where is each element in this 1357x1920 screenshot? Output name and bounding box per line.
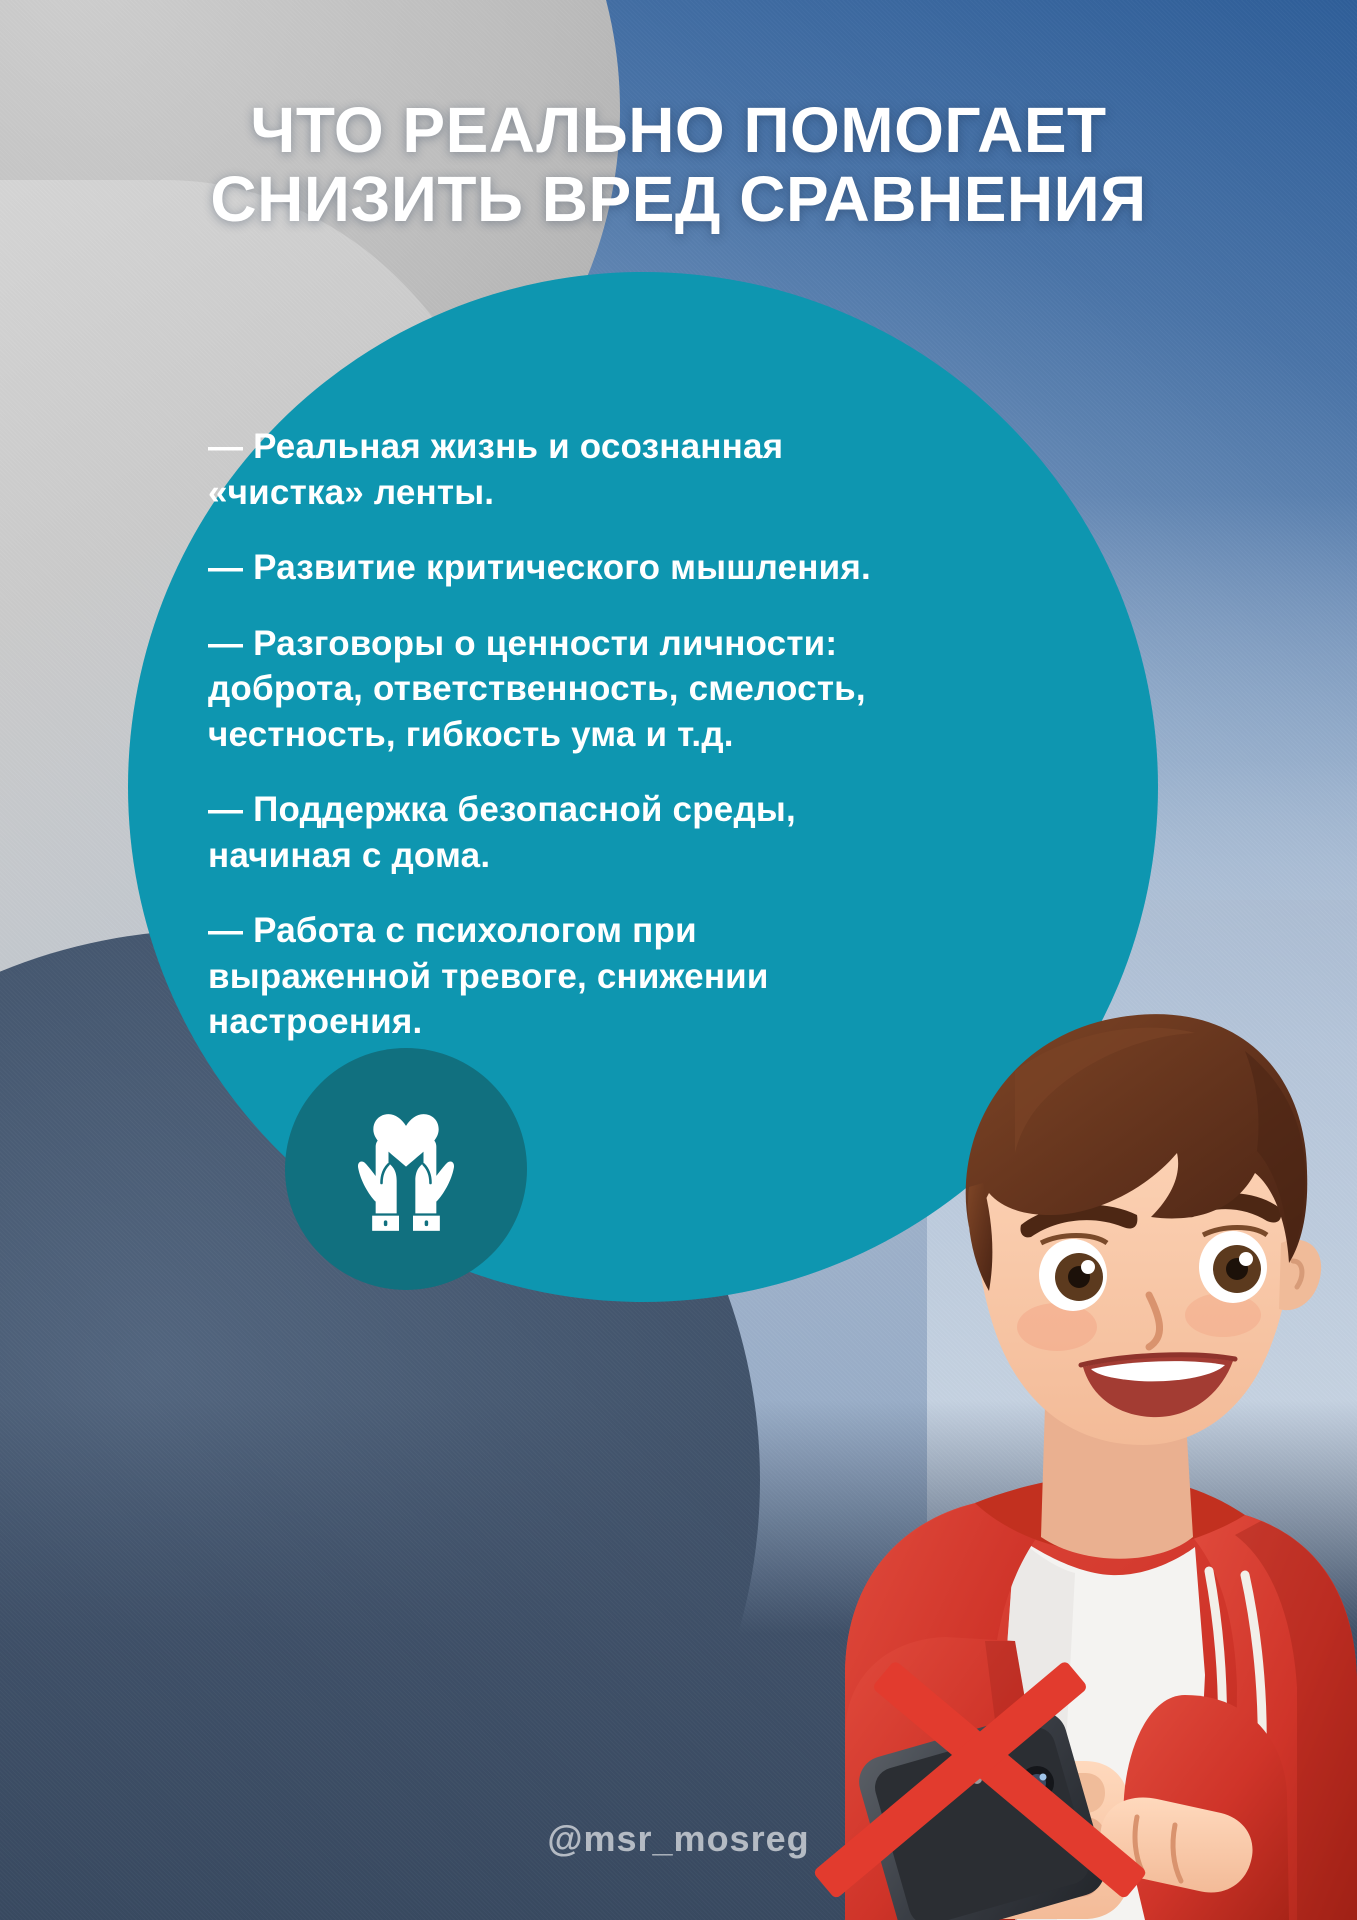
page-title: ЧТО РЕАЛЬНО ПОМОГАЕТ СНИЗИТЬ ВРЕД СРАВНЕ… [0,96,1357,234]
watermark: @msr_mosreg [0,1818,1357,1860]
heart-in-hands-badge [285,1048,527,1290]
heart-in-hands-icon [336,1099,476,1239]
bullet-4-line-2: начиная с дома. [208,833,998,879]
title-line-1: ЧТО РЕАЛЬНО ПОМОГАЕТ [0,96,1357,165]
bullet-3-line-3: честность, гибкость ума и т.д. [208,712,998,758]
bullet-3-line-2: доброта, ответственность, смелость, [208,666,998,712]
list-item: — Развитие критического мышления. [208,545,998,591]
bullet-3-line-1: — Разговоры о ценности личности: [208,621,998,667]
bullet-1-line-1: — Реальная жизнь и осознанная [208,424,998,470]
boy-illustration [545,975,1357,1920]
bullet-1-line-2: «чистка» ленты. [208,470,998,516]
bullet-4-line-1: — Поддержка безопасной среды, [208,787,998,833]
list-item: — Реальная жизнь и осознанная «чистка» л… [208,424,998,515]
list-item: — Поддержка безопасной среды, начиная с … [208,787,998,878]
list-item: — Разговоры о ценности личности: доброта… [208,621,998,758]
bullet-2-line-1: — Развитие критического мышления. [208,545,998,591]
title-line-2: СНИЗИТЬ ВРЕД СРАВНЕНИЯ [0,165,1357,234]
bullet-5-line-1: — Работа с психологом при [208,908,998,954]
infographic-poster: ЧТО РЕАЛЬНО ПОМОГАЕТ СНИЗИТЬ ВРЕД СРАВНЕ… [0,0,1357,1920]
boy-with-phone-illustration [545,975,1357,1920]
tips-list: — Реальная жизнь и осознанная «чистка» л… [208,424,998,1045]
